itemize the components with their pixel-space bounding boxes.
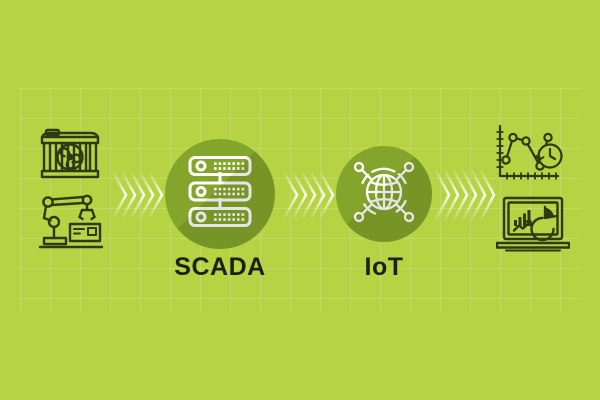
connector-chevrons-1 (112, 168, 164, 222)
globe-network-icon (350, 158, 418, 231)
line-chart-clock-icon (496, 124, 564, 186)
scada-node[interactable] (165, 139, 275, 249)
connector-chevrons-2 (283, 168, 335, 222)
server-stack-icon (185, 156, 255, 233)
iot-node[interactable] (336, 146, 432, 242)
iot-label: IoT (324, 253, 444, 282)
connector-chevrons-3 (434, 164, 496, 226)
robotic-arm-icon (38, 192, 104, 254)
laptop-dashboard-icon (496, 196, 570, 254)
ventilation-fan-icon (38, 124, 102, 184)
diagram-canvas: SCADA (0, 0, 600, 400)
scada-label: SCADA (150, 253, 290, 282)
